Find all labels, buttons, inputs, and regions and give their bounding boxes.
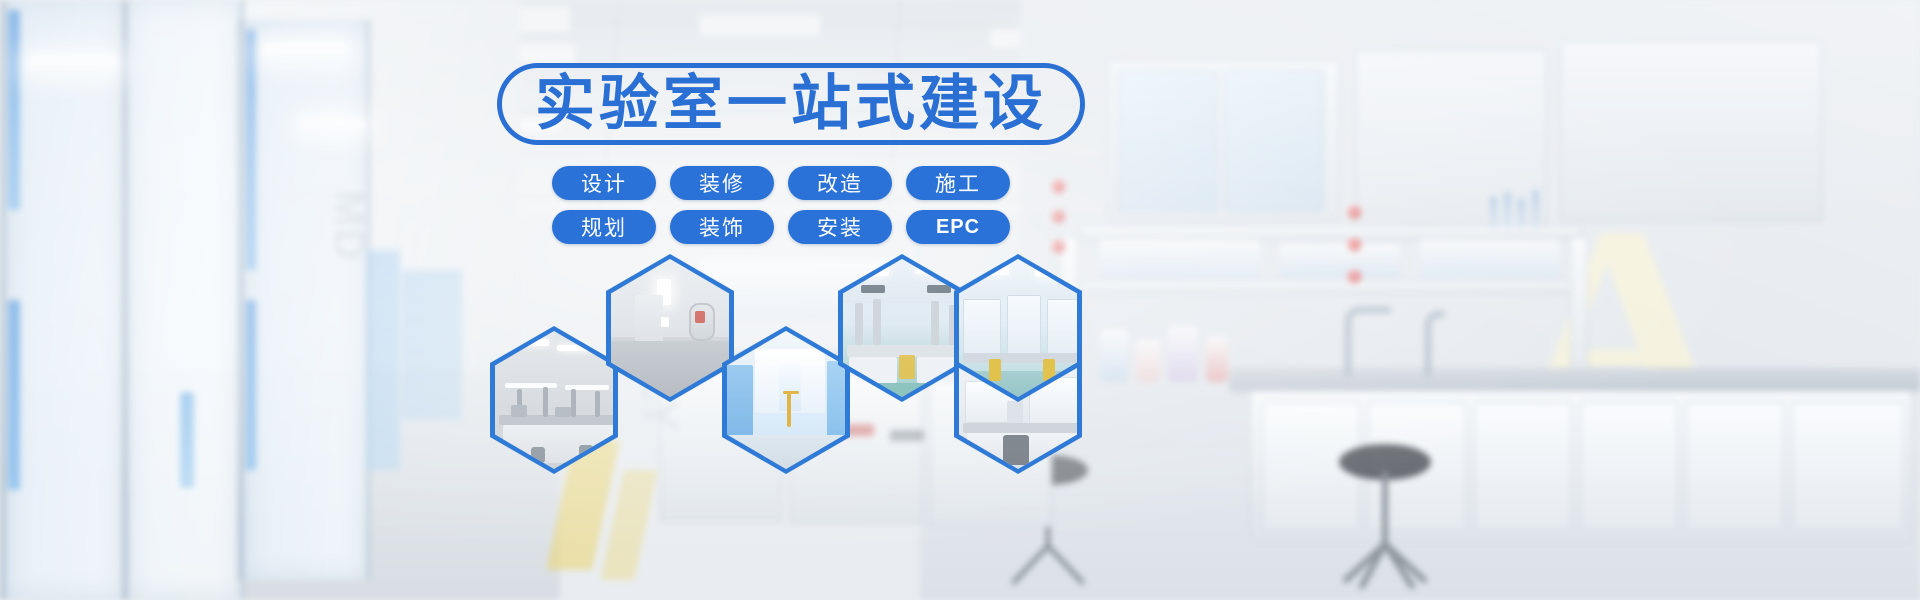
hex-photo-lab-benches [495, 331, 613, 469]
lab-construction-banner: A [0, 0, 1920, 600]
tag-planning[interactable]: 规划 [552, 210, 656, 244]
hex-inner [611, 259, 729, 397]
tag-retrofit[interactable]: 改造 [788, 166, 892, 200]
hexagon-gallery-extra [954, 254, 1094, 414]
tag-renovation[interactable]: 装修 [670, 166, 774, 200]
page-title: 实验室一站式建设 [535, 74, 1047, 134]
hex-photo-cleanroom-corridor [611, 259, 729, 397]
tag-design[interactable]: 设计 [552, 166, 656, 200]
service-tags-row-2: 规划 装饰 安装 EPC [552, 210, 1032, 244]
hex-inner [727, 331, 845, 469]
title-pill-frame: 实验室一站式建设 [497, 63, 1085, 145]
service-tags: 设计 装修 改造 施工 规划 装饰 安装 EPC [552, 166, 1032, 254]
service-tags-row-1: 设计 装修 改造 施工 [552, 166, 1032, 200]
tag-construction[interactable]: 施工 [906, 166, 1010, 200]
tag-installation[interactable]: 安装 [788, 210, 892, 244]
hex-photo-bench-room [959, 259, 1077, 397]
tag-epc[interactable]: EPC [906, 210, 1010, 244]
hex-inner [959, 259, 1077, 397]
hex-lab-benches[interactable] [490, 326, 618, 474]
hex-inner [495, 331, 613, 469]
hex-bench-room[interactable] [954, 254, 1082, 402]
hex-cleanroom-corridor[interactable] [606, 254, 734, 402]
tag-decoration[interactable]: 装饰 [670, 210, 774, 244]
hex-photo-instrument-lab [843, 259, 961, 397]
hex-photo-blue-corridor [727, 331, 845, 469]
hex-instrument-lab[interactable] [838, 254, 966, 402]
hex-blue-corridor[interactable] [722, 326, 850, 474]
hex-inner [843, 259, 961, 397]
